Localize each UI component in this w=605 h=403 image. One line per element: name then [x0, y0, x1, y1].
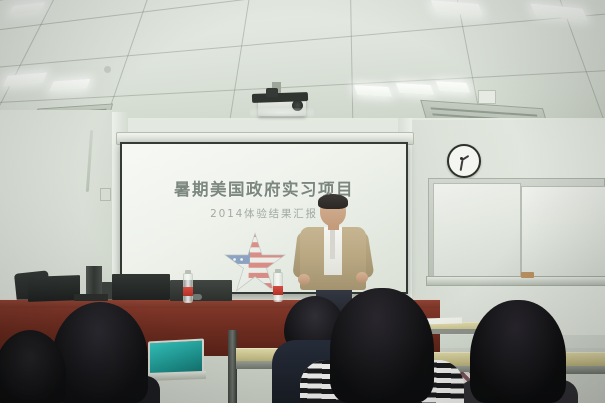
bottle-cap [185, 270, 191, 274]
ceiling-light-panel [354, 85, 392, 97]
keyboard[interactable] [74, 294, 108, 301]
student-long-hair [470, 300, 566, 403]
whiteboard-panel-left[interactable] [433, 183, 521, 277]
student-long-hair [330, 288, 434, 403]
ceiling-light-panel [431, 0, 484, 16]
laptop[interactable] [28, 275, 80, 302]
projector-glow [250, 108, 314, 117]
ceiling-light-panel [9, 2, 45, 15]
laptop[interactable] [112, 274, 170, 300]
bottle-label [273, 286, 283, 295]
presenter-hand-left [298, 274, 310, 285]
whiteboard-eraser[interactable] [521, 272, 534, 278]
ceiling-light-panel [436, 81, 471, 93]
clock-center-dot [460, 157, 463, 160]
whiteboard-marker-ledge [426, 276, 605, 286]
ceiling-light-panel [3, 72, 47, 86]
bottle-label [183, 287, 193, 296]
presenter-collar [330, 229, 335, 259]
presenter-hair [318, 194, 348, 209]
ceiling-light-panel [49, 79, 90, 91]
whiteboard-panel-right[interactable] [521, 186, 605, 277]
sprinkler-head [104, 66, 111, 73]
water-bottle[interactable] [183, 273, 193, 303]
wall-clock [447, 144, 481, 178]
clock-minute-hand [460, 160, 463, 171]
ceiling-speaker [478, 90, 496, 104]
water-bottle[interactable] [273, 272, 283, 302]
sliding-whiteboard[interactable] [428, 178, 605, 282]
projector-knob [266, 88, 278, 97]
wall-socket [100, 188, 111, 201]
presenter-hand-right [356, 272, 368, 283]
bottle-cap [275, 269, 281, 273]
mouse[interactable] [192, 294, 202, 300]
ceiling-light-panel [396, 83, 434, 95]
classroom-photo: 暑期美国政府实习项目 2014体验结果汇报 [0, 0, 605, 403]
